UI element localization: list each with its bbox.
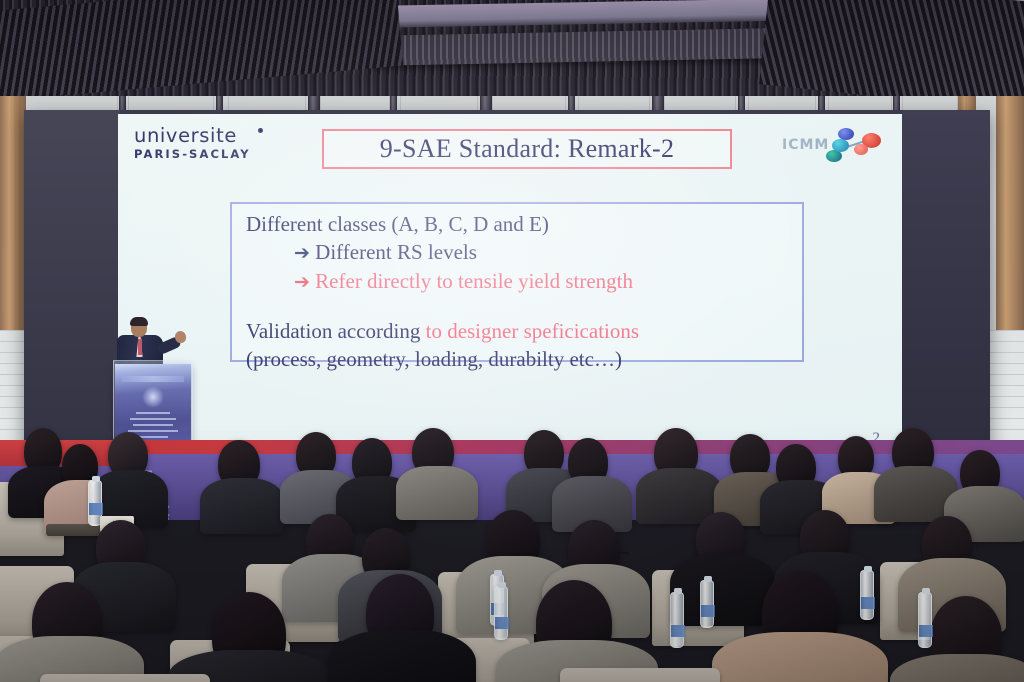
logo-accent-dot [258,128,263,133]
speaker-hair [130,317,148,326]
body-line-2: ➔ Different RS levels [246,238,794,267]
chair [560,668,720,682]
slide-body-text: Different classes (A, B, C, D and E) ➔ D… [246,210,794,373]
bottle-label [671,625,685,637]
speaker-tie [138,339,142,355]
slide-content-box: Different classes (A, B, C, D and E) ➔ D… [230,202,804,362]
water-bottle [918,592,932,648]
attendee-shoulders [396,466,478,520]
water-bottle [494,586,508,640]
molecule-sphere [832,139,849,152]
university-paris-saclay-logo: universite PARIS-SACLAY [134,126,294,161]
bottle-label [919,625,933,637]
water-bottle [860,570,874,620]
podium-text-line [130,418,176,420]
slide-title: 9-SAE Standard: Remark-2 [324,131,730,167]
university-logo-line1: universite [134,126,294,146]
body-line-4-part-a: Validation according [246,319,426,343]
water-bottle [670,592,684,648]
bottle-cap [864,566,872,572]
body-line-4: Validation according to designer spefici… [246,317,794,345]
presentation-slide: universite PARIS-SACLAY ICMM 9-SAE Stand… [118,114,902,451]
arrow-icon: ➔ [294,271,310,293]
eyeglasses [608,552,630,559]
screen-border-right [902,110,990,455]
body-line-5: (process, geometry, loading, durabilty e… [246,345,794,373]
conference-hall-photo: universite PARIS-SACLAY ICMM 9-SAE Stand… [0,0,1024,682]
bottle-cap [494,570,502,576]
ceiling-edge-right [759,0,1024,96]
attendee-shoulders [890,654,1024,682]
body-spacer [246,296,794,317]
slide-title-box: 9-SAE Standard: Remark-2 [322,129,732,169]
wood-column [996,86,1024,336]
audience: 名牌 [0,424,1024,682]
bottle-label [701,605,715,617]
molecule-sphere [854,144,868,155]
bottle-label [861,597,875,609]
arrow-icon: ➔ [294,242,310,264]
wood-column [0,86,26,336]
body-line-3: ➔ Refer directly to tensile yield streng… [246,267,794,296]
bottle-label [89,503,103,515]
bottle-cap [922,588,930,594]
bottle-cap [704,576,712,582]
chair [40,674,210,682]
podium-text-line [136,412,170,414]
water-bottle [700,580,714,628]
body-line-3-text: Refer directly to tensile yield strength [315,269,633,293]
attendee-shoulders [200,478,284,534]
body-line-4-part-b: to designer speficications [426,319,639,343]
bottle-cap [674,588,682,594]
university-logo-line2: PARIS-SACLAY [134,147,294,161]
attendee-shoulders [712,632,888,682]
podium-header-bar [122,376,184,382]
bottle-label [495,617,509,629]
bottle-cap [92,476,100,482]
icmmo-logo: ICMM [782,126,888,166]
podium-emblem [142,386,164,408]
screen-border-left [24,110,120,455]
body-line-2-text: Different RS levels [315,240,477,264]
body-line-1: Different classes (A, B, C, D and E) [246,210,794,238]
attendee-shoulders [328,630,476,682]
hall-ceiling [0,0,1024,96]
bottle-cap [498,582,506,588]
attendee-shoulders [670,554,776,626]
icmmo-logo-text: ICMM [782,137,829,153]
